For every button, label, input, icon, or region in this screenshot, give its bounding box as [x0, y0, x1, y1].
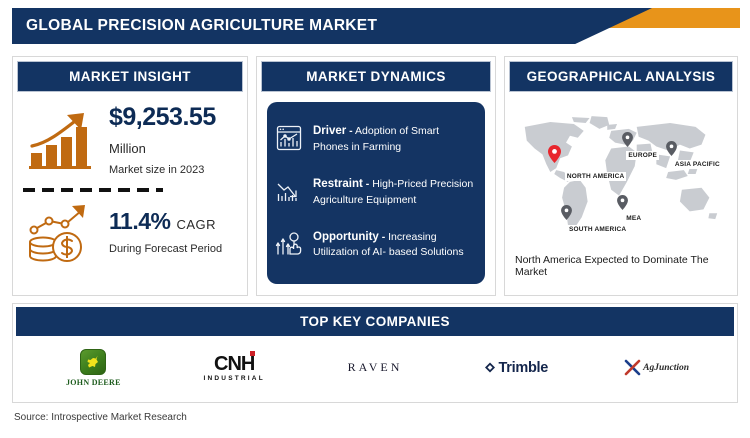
dynamics-opportunity-term: Opportunity: [313, 231, 379, 243]
dynamics-driver-term: Driver: [313, 125, 346, 137]
declining-chart-icon: [275, 176, 305, 210]
cagr-text: 11.4% CAGR During Forecast Period: [109, 208, 237, 255]
geographical-analysis-panel: GEOGRAPHICAL ANALYSIS: [504, 56, 738, 296]
trimble-wordmark: Trimble: [499, 360, 548, 376]
dynamics-restraint-term: Restraint: [313, 178, 363, 190]
dashboard-chart-icon: [275, 123, 305, 157]
raven-logo: RAVEN: [348, 360, 403, 375]
market-insight-body: $9,253.55 Million Market size in 2023: [13, 92, 247, 295]
agjunction-logo: AgJunction: [624, 359, 689, 376]
panels-row: MARKET INSIGHT $9,253.55 Mi: [12, 56, 738, 296]
dynamics-restraint-text: Restraint - High-Priced Precision Agricu…: [313, 176, 475, 208]
market-insight-panel: MARKET INSIGHT $9,253.55 Mi: [12, 56, 248, 296]
agjunction-x-icon: [624, 359, 641, 376]
geographical-analysis-heading: GEOGRAPHICAL ANALYSIS: [509, 61, 733, 92]
cagr-subtitle: During Forecast Period: [109, 243, 237, 255]
header-navy-banner: GLOBAL PRECISION AGRICULTURE MARKET: [12, 8, 652, 44]
company-john-deere[interactable]: JOHN DEERE: [28, 349, 158, 387]
cnh-wordmark: CNH: [214, 353, 254, 375]
dynamics-restraint-dash: -: [366, 178, 370, 190]
trimble-mark-icon: [484, 361, 497, 374]
map-label-asia-pacific: ASIA PACIFIC: [673, 160, 722, 169]
company-cnh-industrial[interactable]: CNH INDUSTRIAL: [169, 354, 299, 382]
coins-growth-icon: [23, 202, 101, 262]
dynamics-item-opportunity: Opportunity - Increasing Utilization of …: [275, 229, 475, 263]
map-label-europe: EUROPE: [626, 151, 659, 160]
market-dynamics-panel: MARKET DYNAMICS: [256, 56, 496, 296]
cnh-industrial-logo: CNH: [214, 354, 254, 374]
company-raven[interactable]: RAVEN: [310, 360, 440, 375]
agjunction-wordmark: AgJunction: [643, 363, 689, 373]
map-pin-asia-pacific[interactable]: [666, 141, 677, 156]
map-pin-south-america[interactable]: [561, 205, 572, 220]
page-title: GLOBAL PRECISION AGRICULTURE MARKET: [12, 17, 377, 35]
world-map: NORTH AMERICA EUROPE ASIA PACIFIC: [513, 100, 729, 250]
page-header: GLOBAL PRECISION AGRICULTURE MARKET: [0, 0, 750, 52]
john-deere-logo: [80, 349, 106, 375]
market-size-stat: $9,253.55 Million Market size in 2023: [21, 98, 239, 178]
dynamics-driver-text: Driver - Adoption of Smart Phones in Far…: [313, 123, 475, 155]
growth-hand-icon: [275, 229, 305, 263]
insight-divider: [23, 188, 163, 192]
top-key-companies-heading: TOP KEY COMPANIES: [16, 307, 734, 336]
dynamics-item-restraint: Restraint - High-Priced Precision Agricu…: [275, 176, 475, 210]
map-pin-mea[interactable]: [617, 195, 628, 210]
company-logo-strip: JOHN DEERE CNH INDUSTRIAL RAVEN Trimble: [13, 336, 737, 399]
map-pin-north-america[interactable]: [548, 145, 561, 163]
dynamics-opportunity-text: Opportunity - Increasing Utilization of …: [313, 229, 475, 261]
market-size-unit: Million: [109, 141, 237, 156]
dynamics-item-driver: Driver - Adoption of Smart Phones in Far…: [275, 123, 475, 157]
map-label-north-america: NORTH AMERICA: [565, 172, 627, 181]
geographical-caption: North America Expected to Dominate The M…: [513, 250, 729, 278]
company-agjunction[interactable]: AgJunction: [592, 359, 722, 376]
john-deere-name: JOHN DEERE: [66, 378, 121, 387]
cnh-red-dot-icon: [250, 351, 255, 356]
geographical-analysis-body: NORTH AMERICA EUROPE ASIA PACIFIC: [505, 92, 737, 295]
trimble-logo: Trimble: [484, 360, 548, 376]
map-label-mea: MEA: [624, 214, 643, 223]
market-size-subtitle: Market size in 2023: [109, 164, 237, 176]
cagr-value: 11.4%: [109, 208, 170, 235]
dynamics-opportunity-dash: -: [382, 231, 386, 243]
market-size-text: $9,253.55 Million Market size in 2023: [109, 104, 237, 176]
map-label-south-america: SOUTH AMERICA: [567, 225, 628, 234]
market-dynamics-heading: MARKET DYNAMICS: [261, 61, 491, 92]
market-dynamics-card: Driver - Adoption of Smart Phones in Far…: [267, 102, 485, 284]
dynamics-driver-dash: -: [349, 125, 353, 137]
source-note: Source: Introspective Market Research: [14, 412, 187, 423]
map-pin-europe[interactable]: [622, 132, 633, 147]
cagr-label: CAGR: [176, 217, 216, 232]
top-key-companies-panel: TOP KEY COMPANIES JOHN DEERE CNH INDUSTR…: [12, 303, 738, 403]
growth-bar-chart-icon: [23, 109, 101, 171]
market-insight-heading: MARKET INSIGHT: [17, 61, 243, 92]
market-size-value: $9,253.55: [109, 104, 237, 132]
market-dynamics-body: Driver - Adoption of Smart Phones in Far…: [257, 92, 495, 295]
cagr-line: 11.4% CAGR: [109, 208, 237, 235]
cagr-stat: 11.4% CAGR During Forecast Period: [21, 196, 239, 264]
company-trimble[interactable]: Trimble: [451, 360, 581, 376]
cnh-subtext: INDUSTRIAL: [204, 375, 265, 382]
